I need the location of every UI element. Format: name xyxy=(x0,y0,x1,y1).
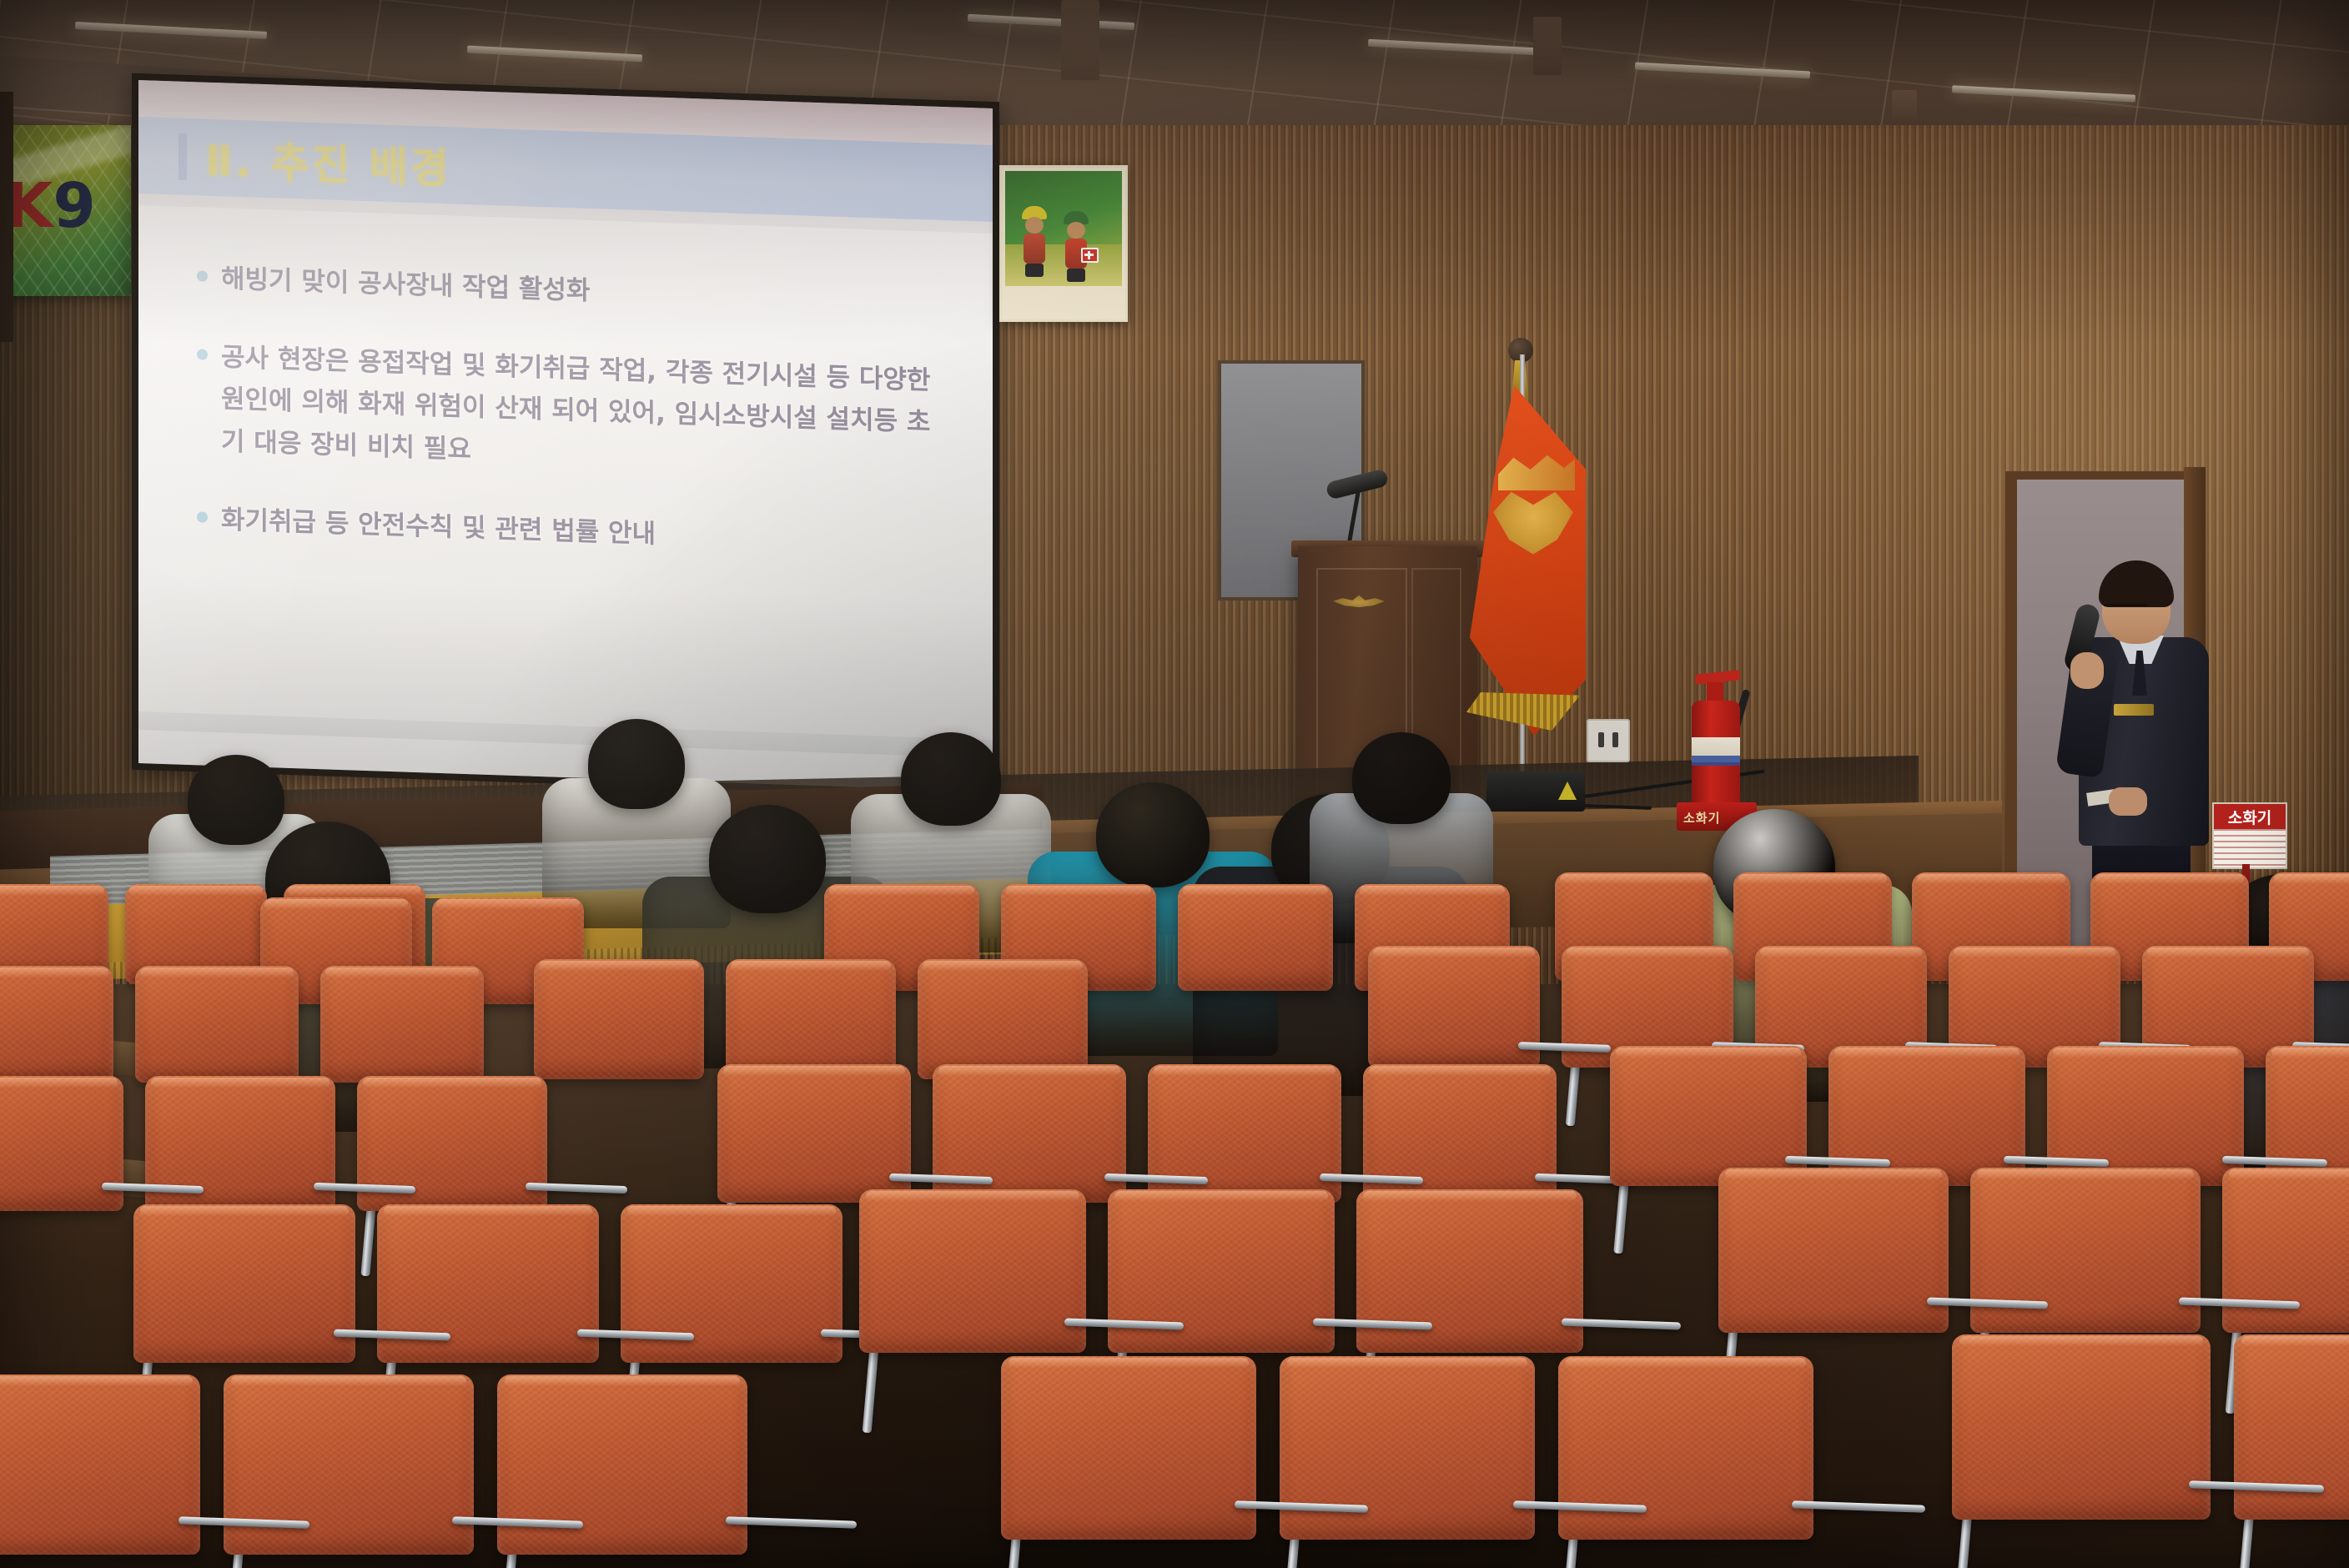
auditorium-seat[interactable] xyxy=(918,959,1088,1079)
seat-back-highlight xyxy=(1760,947,1922,957)
seat-back-highlight xyxy=(1363,1191,1577,1201)
slide-bullet-2: 공사 현장은 용접작업 및 화기취급 작업, 각종 전기시설 등 다양한 원인에… xyxy=(197,336,934,486)
seat-back-highlight xyxy=(288,886,421,896)
auditorium-seat[interactable] xyxy=(0,966,113,1083)
seat-back xyxy=(497,1375,747,1555)
seat-back-highlight xyxy=(1287,1358,1527,1368)
seat-back-highlight xyxy=(2271,1048,2349,1058)
seat-back-highlight xyxy=(1567,947,1728,957)
seat-back-highlight xyxy=(2095,874,2245,884)
seat-back-highlight xyxy=(1009,1358,1249,1368)
seat-back-highlight xyxy=(1725,1169,1941,1179)
seat-back-highlight xyxy=(384,1206,592,1216)
seat-back-highlight xyxy=(129,886,263,896)
seat-back-highlight xyxy=(1360,886,1506,896)
auditorium-seat[interactable] xyxy=(1280,1356,1535,1540)
auditorium-seat[interactable] xyxy=(133,1204,355,1363)
glasses-icon xyxy=(2104,604,2147,617)
seat-back xyxy=(726,959,896,1079)
poster-head xyxy=(1067,222,1085,239)
seat-back xyxy=(1970,1168,2201,1333)
poster-legs xyxy=(1067,269,1085,282)
slide-bullet-1: 해빙기 맞이 공사장내 작업 활성화 xyxy=(197,257,934,324)
ceiling-pendant-fixture xyxy=(1061,0,1099,80)
audience-member-head xyxy=(709,805,826,913)
slide-body: 해빙기 맞이 공사장내 작업 활성화 공사 현장은 용접작업 및 화기취급 작업… xyxy=(138,205,993,792)
seat-back-highlight xyxy=(829,886,975,896)
slide-bullet-1-text: 해빙기 맞이 공사장내 작업 활성화 xyxy=(221,258,590,312)
auditorium-seat[interactable] xyxy=(1718,1168,1949,1333)
bullet-dot-icon xyxy=(197,511,208,522)
slide-title: Ⅱ. 추진 배경 xyxy=(205,128,451,196)
projector-control-box[interactable] xyxy=(1486,771,1585,812)
seat-back xyxy=(859,1189,1086,1353)
seat-back-highlight xyxy=(539,961,699,971)
slide-bullet-3-text: 화기취급 등 안전수칙 및 관련 법률 안내 xyxy=(221,499,656,555)
slide-bullet-3: 화기취급 등 안전수칙 및 관련 법률 안내 xyxy=(197,498,934,565)
seat-back-highlight xyxy=(1560,874,1709,884)
extinguisher-label-band xyxy=(1692,756,1740,766)
presenter-hair xyxy=(2099,560,2174,607)
seat-back-highlight xyxy=(1977,1169,2193,1179)
seat-back-highlight xyxy=(2274,874,2349,884)
safety-mascot-poster xyxy=(999,165,1128,322)
auditorium-seat[interactable] xyxy=(320,966,484,1083)
seat-back-highlight xyxy=(866,1191,1079,1201)
seat-back xyxy=(1001,1356,1256,1540)
seat-back xyxy=(918,959,1088,1079)
seat-back-highlight xyxy=(731,961,891,971)
ceiling-pendant-fixture-2 xyxy=(1533,17,1562,75)
seat-back xyxy=(320,966,484,1083)
seat-back-highlight xyxy=(2241,1336,2349,1346)
k9-logo-text: K9 xyxy=(5,175,96,237)
seat-back-highlight xyxy=(1954,947,2115,957)
seat-back-highlight xyxy=(1154,1066,1335,1076)
seat-back-highlight xyxy=(2147,947,2309,957)
auditorium-seat[interactable] xyxy=(1970,1168,2201,1333)
seat-back-highlight xyxy=(1834,1048,2020,1058)
seat-back-highlight xyxy=(325,967,479,977)
seat-back-highlight xyxy=(2229,1169,2349,1179)
seat-back-highlight xyxy=(0,1078,118,1088)
seat-back-highlight xyxy=(231,1376,466,1386)
fire-extinguisher-sign-label: 소화기 xyxy=(2214,804,2286,829)
seat-back-highlight xyxy=(1183,886,1329,896)
seat-back-highlight xyxy=(1006,886,1152,896)
seat-back-highlight xyxy=(1959,1336,2202,1346)
projection-screen: Ⅱ. 추진 배경 해빙기 맞이 공사장내 작업 활성화 공사 현장은 용접작업 … xyxy=(138,80,993,792)
poster-first-aid-kit-icon xyxy=(1081,248,1099,263)
poster-legs xyxy=(1025,264,1044,277)
seat-back-highlight xyxy=(151,1078,329,1088)
seat-back xyxy=(1178,884,1333,991)
seat-back xyxy=(1952,1334,2211,1520)
seat-back-highlight xyxy=(1373,947,1535,957)
auditorium-seat[interactable] xyxy=(534,959,704,1079)
auditorium-seat[interactable] xyxy=(2234,1334,2349,1520)
auditorium-seat[interactable] xyxy=(224,1375,474,1555)
auditorium-seat[interactable] xyxy=(717,1064,911,1203)
presenter-hand xyxy=(2070,652,2104,689)
wall-power-outlet[interactable] xyxy=(1587,719,1630,762)
seat-back-highlight xyxy=(1369,1066,1551,1076)
seat-back xyxy=(0,1375,200,1555)
seat-back-highlight xyxy=(1566,1358,1806,1368)
auditorium-seat[interactable] xyxy=(135,966,299,1083)
seat-back-highlight xyxy=(923,961,1083,971)
presenter-name-badge xyxy=(2114,704,2154,716)
audience-member-head xyxy=(1352,732,1451,824)
poster-body xyxy=(1024,234,1045,264)
projection-screen-frame: Ⅱ. 추진 배경 해빙기 맞이 공사장내 작업 활성화 공사 현장은 용접작업 … xyxy=(132,73,999,799)
bullet-dot-icon xyxy=(197,270,208,281)
seat-back-highlight xyxy=(1114,1191,1328,1201)
fire-extinguisher-sign-body xyxy=(2214,829,2286,866)
bullet-dot-icon xyxy=(197,349,208,360)
seat-back-highlight xyxy=(0,886,104,896)
seat-back-highlight xyxy=(0,967,108,977)
seat-back xyxy=(1558,1356,1813,1540)
seat-back-highlight xyxy=(0,1376,193,1386)
auditorium-seat[interactable] xyxy=(0,1076,123,1211)
k9-banner: K9 xyxy=(0,125,131,296)
auditorium-scene: K9 Ⅱ. 추진 배경 해빙기 맞이 공사장내 작업 활성화 공사 현장은 용접… xyxy=(0,0,2349,1568)
seat-back-highlight xyxy=(264,899,407,909)
poster-figure-left xyxy=(1020,206,1049,277)
seat-back-highlight xyxy=(436,899,579,909)
auditorium-seat[interactable] xyxy=(1952,1334,2211,1520)
seat-back-highlight xyxy=(363,1078,541,1088)
poster-figure-right xyxy=(1062,211,1090,282)
fire-extinguisher-sign: 소화기 xyxy=(2212,802,2287,869)
seat-back-highlight xyxy=(2053,1048,2238,1058)
k9-letter-9: 9 xyxy=(53,170,96,242)
slide-title-accent-bar xyxy=(179,133,187,180)
auditorium-seat[interactable] xyxy=(1558,1356,1813,1540)
auditorium-seat[interactable] xyxy=(0,1375,200,1555)
seat-back xyxy=(135,966,299,1083)
seat-back-highlight xyxy=(627,1206,836,1216)
seat-back xyxy=(133,1204,355,1363)
seat-back xyxy=(0,1076,123,1211)
seat-back-highlight xyxy=(140,967,294,977)
seat-back xyxy=(1368,946,1540,1068)
auditorium-seat[interactable] xyxy=(1368,946,1540,1068)
banner-edge-shadow xyxy=(0,92,13,342)
seat-back xyxy=(1718,1168,1949,1333)
seat-back-highlight xyxy=(1917,874,2066,884)
auditorium-seat[interactable] xyxy=(1178,884,1333,991)
audience-member-head xyxy=(588,719,685,809)
seat-back xyxy=(534,959,704,1079)
seat-back xyxy=(717,1064,911,1203)
seat-back-highlight xyxy=(938,1066,1120,1076)
seat-back-highlight xyxy=(140,1206,349,1216)
auditorium-seat[interactable] xyxy=(497,1375,747,1555)
seat-back-highlight xyxy=(505,1376,740,1386)
seat-back-highlight xyxy=(1616,1048,1801,1058)
seat-back xyxy=(1280,1356,1535,1540)
seat-back xyxy=(1610,1046,1807,1186)
seat-back-highlight xyxy=(723,1066,905,1076)
audience-member-head xyxy=(901,732,1001,826)
seat-back xyxy=(0,966,113,1083)
seat-back xyxy=(224,1375,474,1555)
slide-bullet-2-text: 공사 현장은 용접작업 및 화기취급 작업, 각종 전기시설 등 다양한 원인에… xyxy=(221,337,934,486)
auditorium-seat[interactable] xyxy=(1610,1046,1807,1186)
poster-head xyxy=(1025,217,1044,234)
presenter-hand-lower xyxy=(2109,787,2147,816)
presenter xyxy=(2065,564,2212,917)
auditorium-seat[interactable] xyxy=(1001,1356,1256,1540)
seat-back xyxy=(2234,1334,2349,1520)
auditorium-seat[interactable] xyxy=(726,959,896,1079)
seat-back-highlight xyxy=(1738,874,1888,884)
auditorium-seat[interactable] xyxy=(859,1189,1086,1353)
